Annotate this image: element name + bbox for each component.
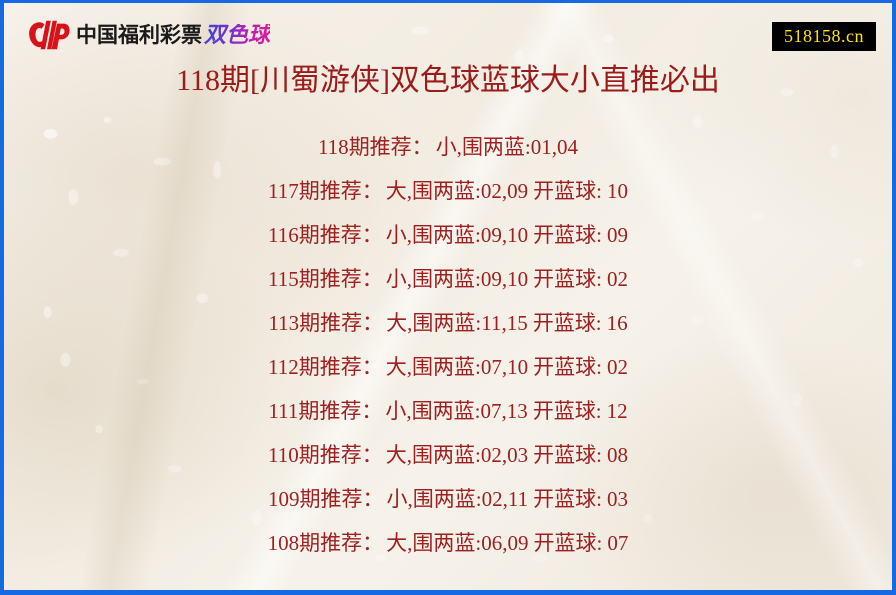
row-two-blue-values: 02,09	[481, 179, 528, 203]
china-welfare-lottery-logo-icon	[26, 19, 70, 51]
prediction-row: 110期推荐：大,围两蓝:02,03开蓝球:08	[268, 433, 628, 477]
row-drawn-value: 02	[602, 355, 628, 379]
row-drawn-label: 开蓝球:	[529, 531, 603, 555]
row-recommend-label: 期推荐：	[299, 311, 383, 335]
brand-name-cn: 中国福利彩票	[76, 25, 202, 46]
row-two-blue-values: 11,15	[481, 311, 527, 335]
row-two-blue-values: 09,10	[481, 267, 528, 291]
row-issue-number: 117	[268, 179, 299, 203]
row-two-blue-values: 06,09	[481, 531, 528, 555]
site-watermark-badge: 518158.cn	[772, 22, 876, 51]
row-drawn-value: 12	[602, 399, 628, 423]
row-recommend-label: 期推荐：	[299, 443, 383, 467]
row-two-blue-label: 围两蓝:	[412, 443, 481, 467]
row-drawn-value: 10	[602, 179, 628, 203]
row-drawn-label: 开蓝球:	[528, 399, 602, 423]
prediction-list: 118期推荐：小,围两蓝:01,04117期推荐：大,围两蓝:02,09开蓝球:…	[4, 125, 892, 565]
row-issue-number: 108	[268, 531, 300, 555]
row-size-prediction: 小,	[383, 267, 412, 291]
prediction-row: 113期推荐：大,围两蓝:11,15开蓝球:16	[268, 301, 627, 345]
prediction-row: 112期推荐：大,围两蓝:07,10开蓝球:02	[268, 345, 628, 389]
row-recommend-label: 期推荐：	[299, 531, 383, 555]
prediction-row: 108期推荐：大,围两蓝:06,09开蓝球:07	[268, 521, 629, 565]
row-two-blue-label: 围两蓝:	[412, 399, 481, 423]
row-size-prediction: 大,	[383, 443, 412, 467]
row-two-blue-label: 围两蓝:	[412, 531, 481, 555]
row-issue-number: 118	[318, 135, 349, 159]
brand-game-name: 双色球	[204, 24, 270, 46]
row-recommend-label: 期推荐：	[298, 399, 382, 423]
row-two-blue-label: 围两蓝:	[412, 311, 481, 335]
row-issue-number: 110	[268, 443, 299, 467]
row-two-blue-label: 围两蓝:	[412, 267, 481, 291]
row-two-blue-label: 围两蓝:	[412, 179, 481, 203]
row-drawn-value: 02	[602, 267, 628, 291]
row-issue-number: 113	[268, 311, 299, 335]
row-size-prediction: 大,	[383, 531, 412, 555]
brand-lockup: 中国福利彩票 双色球	[26, 18, 270, 52]
row-drawn-label: 开蓝球:	[528, 179, 602, 203]
row-two-blue-label: 围两蓝:	[412, 223, 481, 247]
row-drawn-label: 开蓝球:	[528, 443, 602, 467]
row-recommend-label: 期推荐：	[349, 135, 433, 159]
row-size-prediction: 大,	[383, 355, 412, 379]
row-two-blue-label: 围两蓝:	[462, 135, 531, 159]
row-drawn-value: 09	[602, 223, 628, 247]
row-two-blue-values: 07,10	[481, 355, 528, 379]
row-issue-number: 111	[268, 399, 298, 423]
prediction-row: 109期推荐：小,围两蓝:02,11开蓝球:03	[268, 477, 628, 521]
row-issue-number: 112	[268, 355, 299, 379]
row-size-prediction: 大,	[383, 179, 412, 203]
row-recommend-label: 期推荐：	[299, 223, 383, 247]
row-recommend-label: 期推荐：	[300, 487, 384, 511]
row-size-prediction: 小,	[382, 399, 411, 423]
row-recommend-label: 期推荐：	[299, 355, 383, 379]
row-issue-number: 116	[268, 223, 299, 247]
row-two-blue-values: 01,04	[531, 135, 578, 159]
row-drawn-value: 03	[602, 487, 628, 511]
row-size-prediction: 小,	[433, 135, 462, 159]
site-header: 中国福利彩票 双色球 518158.cn	[4, 3, 892, 58]
row-drawn-label: 开蓝球:	[528, 267, 602, 291]
row-two-blue-values: 07,13	[480, 399, 527, 423]
row-recommend-label: 期推荐：	[299, 267, 383, 291]
row-drawn-value: 08	[602, 443, 628, 467]
prediction-row: 116期推荐：小,围两蓝:09,10开蓝球:09	[268, 213, 628, 257]
row-recommend-label: 期推荐：	[299, 179, 383, 203]
row-issue-number: 109	[268, 487, 300, 511]
row-drawn-label: 开蓝球:	[528, 311, 602, 335]
page-root: 中国福利彩票 双色球 518158.cn 118期[川蜀游侠]双色球蓝球大小直推…	[0, 0, 896, 595]
row-size-prediction: 大,	[383, 311, 412, 335]
prediction-row: 118期推荐：小,围两蓝:01,04	[318, 125, 578, 169]
row-drawn-value: 07	[602, 531, 628, 555]
prediction-row: 115期推荐：小,围两蓝:09,10开蓝球:02	[268, 257, 628, 301]
row-size-prediction: 小,	[384, 487, 413, 511]
row-two-blue-values: 02,03	[481, 443, 528, 467]
row-drawn-label: 开蓝球:	[528, 487, 602, 511]
row-drawn-value: 16	[602, 311, 628, 335]
prediction-row: 111期推荐：小,围两蓝:07,13开蓝球:12	[268, 389, 627, 433]
row-two-blue-label: 围两蓝:	[412, 355, 481, 379]
row-drawn-label: 开蓝球:	[528, 355, 602, 379]
row-size-prediction: 小,	[383, 223, 412, 247]
prediction-row: 117期推荐：大,围两蓝:02,09开蓝球:10	[268, 169, 628, 213]
row-drawn-label: 开蓝球:	[528, 223, 602, 247]
row-two-blue-values: 02,11	[482, 487, 528, 511]
page-title: 118期[川蜀游侠]双色球蓝球大小直推必出	[4, 61, 892, 101]
row-issue-number: 115	[268, 267, 299, 291]
row-two-blue-values: 09,10	[481, 223, 528, 247]
row-two-blue-label: 围两蓝:	[413, 487, 482, 511]
